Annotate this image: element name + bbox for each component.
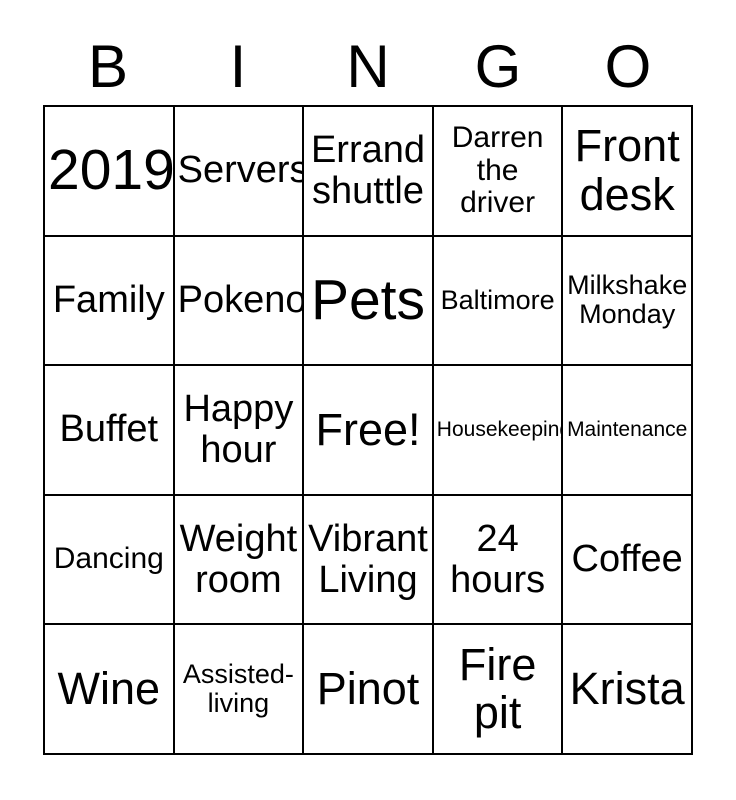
header-letter-g: G	[433, 20, 563, 105]
bingo-cell-label: Coffee	[566, 539, 688, 580]
bingo-cell[interactable]: Milkshake Monday	[563, 237, 693, 367]
bingo-cell-label: Darren the driver	[437, 122, 559, 219]
bingo-cell[interactable]: Pets	[304, 237, 434, 367]
bingo-cell[interactable]: Dancing	[45, 496, 175, 626]
bingo-cell[interactable]: Buffet	[45, 366, 175, 496]
header-letter-n: N	[303, 20, 433, 105]
bingo-cell-label: Pokeno	[178, 280, 300, 321]
bingo-cell-label: Pinot	[307, 665, 429, 714]
bingo-cell[interactable]: Krista	[563, 625, 693, 755]
bingo-cell-label: Family	[48, 280, 170, 321]
bingo-card: B I N G O 2019 Servers Errand shuttle Da…	[0, 0, 736, 800]
bingo-cell-label: Assisted-living	[178, 660, 300, 718]
bingo-cell[interactable]: 2019	[45, 107, 175, 237]
bingo-cell[interactable]: Happy hour	[175, 366, 305, 496]
bingo-cell[interactable]: Weight room	[175, 496, 305, 626]
bingo-cell-label: Housekeeping	[437, 419, 559, 442]
bingo-cell-label: Free!	[307, 406, 429, 455]
bingo-cell[interactable]: Errand shuttle	[304, 107, 434, 237]
bingo-cell[interactable]: Maintenance	[563, 366, 693, 496]
bingo-cell[interactable]: Assisted-living	[175, 625, 305, 755]
bingo-cell[interactable]: Wine	[45, 625, 175, 755]
bingo-cell[interactable]: Servers	[175, 107, 305, 237]
bingo-cell-label: Pets	[307, 270, 429, 332]
bingo-cell[interactable]: Pokeno	[175, 237, 305, 367]
header-letter-i: I	[173, 20, 303, 105]
bingo-cell[interactable]: Pinot	[304, 625, 434, 755]
bingo-cell-label: Milkshake Monday	[566, 271, 688, 329]
bingo-cell-label: Buffet	[48, 409, 170, 450]
bingo-cell[interactable]: Fire pit	[434, 625, 564, 755]
bingo-cell[interactable]: Front desk	[563, 107, 693, 237]
bingo-cell[interactable]: Housekeeping	[434, 366, 564, 496]
bingo-cell-label: Wine	[48, 665, 170, 714]
bingo-grid: 2019 Servers Errand shuttle Darren the d…	[43, 105, 693, 755]
bingo-cell-label: 24 hours	[437, 519, 559, 601]
bingo-cell-label: Maintenance	[566, 419, 688, 442]
bingo-cell-label: Krista	[566, 665, 688, 714]
bingo-cell-label: Dancing	[48, 543, 170, 575]
bingo-cell-label: Weight room	[178, 519, 300, 601]
header-letter-o: O	[563, 20, 693, 105]
bingo-header: B I N G O	[43, 20, 693, 105]
bingo-cell-label: Front desk	[566, 122, 688, 219]
bingo-cell[interactable]: Family	[45, 237, 175, 367]
bingo-cell[interactable]: Darren the driver	[434, 107, 564, 237]
bingo-cell[interactable]: Vibrant Living	[304, 496, 434, 626]
bingo-cell-free[interactable]: Free!	[304, 366, 434, 496]
bingo-cell-label: Servers	[178, 150, 300, 191]
bingo-cell[interactable]: Baltimore	[434, 237, 564, 367]
bingo-cell-label: Fire pit	[437, 641, 559, 738]
bingo-cell-label: 2019	[48, 140, 170, 202]
bingo-cell-label: Baltimore	[437, 286, 559, 315]
bingo-cell-label: Vibrant Living	[307, 519, 429, 601]
bingo-cell-label: Happy hour	[178, 389, 300, 471]
bingo-cell[interactable]: 24 hours	[434, 496, 564, 626]
bingo-cell[interactable]: Coffee	[563, 496, 693, 626]
bingo-cell-label: Errand shuttle	[307, 130, 429, 212]
header-letter-b: B	[43, 20, 173, 105]
